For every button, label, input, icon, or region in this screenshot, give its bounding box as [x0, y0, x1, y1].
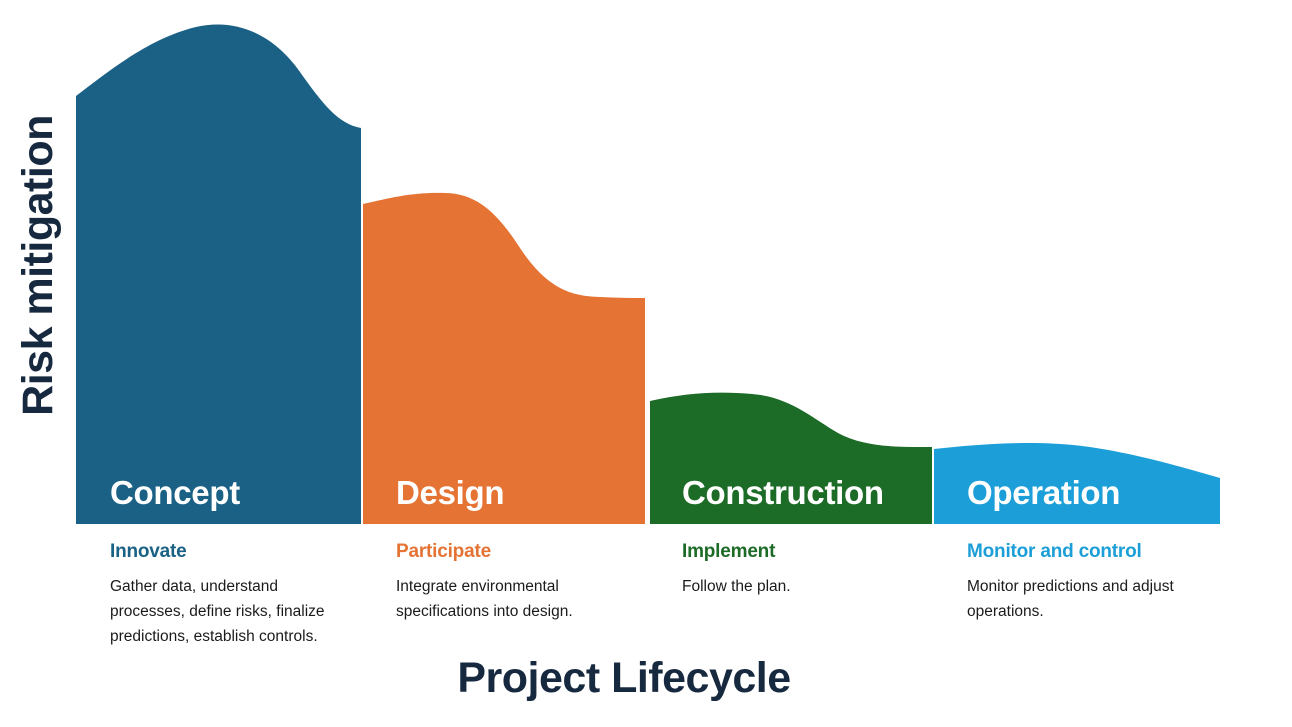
chart-band-design — [363, 193, 645, 524]
caption-construction: Implement Follow the plan. — [682, 540, 922, 599]
caption-body-innovate: Gather data, understand processes, defin… — [110, 574, 348, 649]
caption-design: Participate Integrate environmental spec… — [396, 540, 646, 624]
caption-title-monitor-and-control: Monitor and control — [967, 540, 1207, 564]
caption-body-implement: Follow the plan. — [682, 574, 922, 599]
caption-title-implement: Implement — [682, 540, 922, 564]
caption-title-innovate: Innovate — [110, 540, 348, 564]
x-axis-title: Project Lifecycle — [0, 655, 1248, 702]
infographic-root: Risk mitigation Concept Design Construct… — [0, 0, 1292, 727]
caption-operation: Monitor and control Monitor predictions … — [967, 540, 1207, 624]
caption-body-monitor-and-control: Monitor predictions and adjust operation… — [967, 574, 1207, 624]
chart-band-construction — [650, 393, 932, 524]
area-chart: Concept Design Construction Operation — [0, 0, 1292, 530]
chart-svg — [0, 0, 1292, 530]
caption-concept: Innovate Gather data, understand process… — [110, 540, 348, 649]
caption-body-participate: Integrate environmental specifications i… — [396, 574, 646, 624]
caption-title-participate: Participate — [396, 540, 646, 564]
chart-band-operation — [934, 443, 1220, 524]
chart-band-concept — [76, 24, 361, 524]
